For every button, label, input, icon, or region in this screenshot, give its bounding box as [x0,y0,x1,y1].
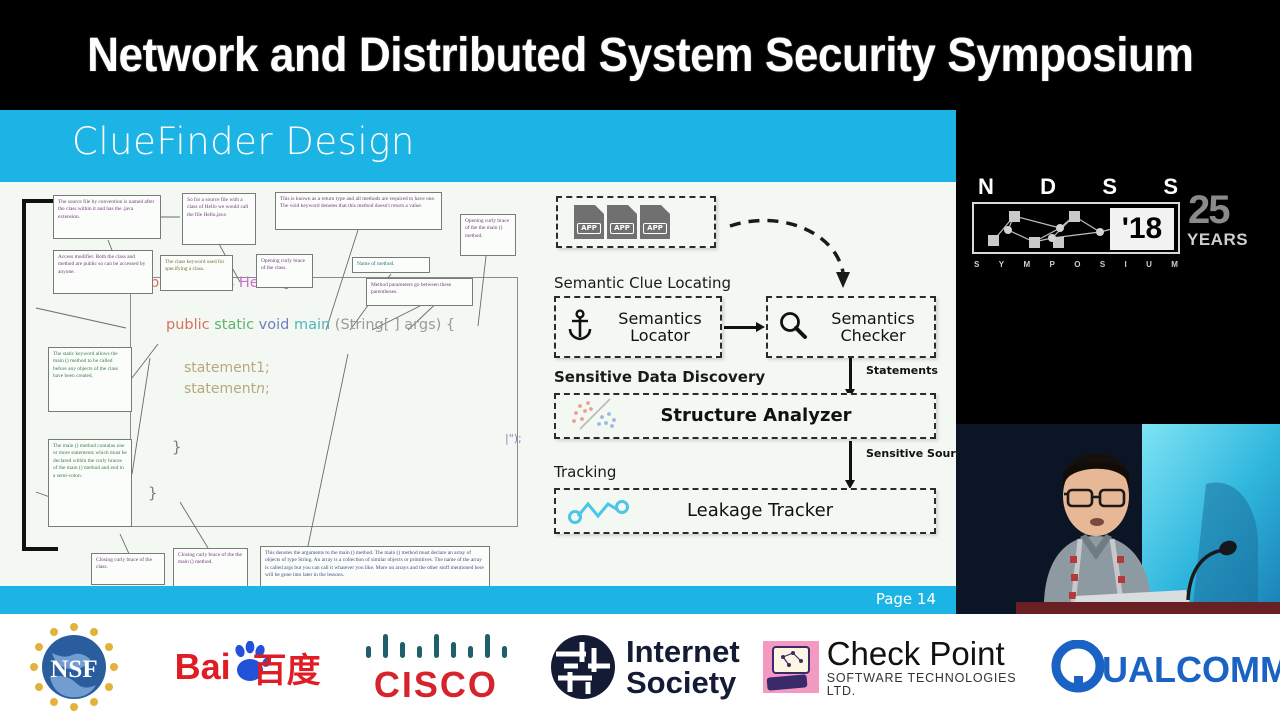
ndss-network-box: '18 [972,202,1180,254]
conference-title: Network and Distributed System Security … [87,28,1193,83]
java-anatomy-diagram: public class Hello { public static void … [8,182,538,586]
stage-label-semantic-clue-locating: Semantic Clue Locating [554,274,731,292]
ndss-logo: N D S S [956,110,1280,424]
sponsor-internet-society: Internet Society [525,632,763,702]
symposium-letter: M [1023,260,1030,269]
note-main-method-statements: The main () method contains one or more … [48,439,132,527]
edge-label-sensitive-sources: Sensitive Sources [866,447,956,460]
internet-society-text-line2: Society [626,667,740,698]
box-leakage-tracker[interactable]: Leakage Tracker [554,488,936,534]
apps-container: APP APP APP [556,196,716,248]
anniversary-number: 25 [1188,188,1229,233]
internet-society-globe-icon [548,632,618,702]
screenshot-root: Network and Distributed System Security … [0,0,1280,720]
note-opening-curly-class: Opening curly brace of the class. [256,254,313,288]
note-method-parameters: Method parameters go between these paren… [366,278,473,306]
cisco-bars-icon [356,628,516,662]
sponsor-check-point: Check Point SOFTWARE TECHNOLOGIES LTD. [763,637,1050,697]
ndss-letters: N D S S [978,174,1178,200]
scatter-plot-icon [566,397,628,436]
box-semantics-locator[interactable]: SemanticsLocator [554,296,722,358]
ndss-symposium-letters: S Y M P O S I U M [974,260,1178,269]
slide-header-bar: ClueFinder Design [0,110,956,182]
code-line-4: } [172,438,182,456]
conference-banner: Network and Distributed System Security … [0,0,1280,110]
box-label-semantics-locator: SemanticsLocator [600,310,720,345]
ndss-year: '18 [1110,208,1174,250]
sponsor-nsf: NSF [0,621,149,713]
sponsor-cisco: CISCO [347,628,525,706]
ndss-letter: D [1040,174,1056,200]
zigzag-trace-icon [566,494,636,529]
page-number: Page 14 [876,590,936,608]
note-source-file-naming: The source file by convention is named a… [53,195,161,239]
code-line-5: } [148,484,158,502]
cluefinder-architecture-flowchart: APP APP APP Semantic Clue Locating [548,188,948,586]
note-closing-curly-class: Closing curly brace of the class. [91,553,165,585]
internet-society-text-line1: Internet [626,636,740,667]
app-icon-label: APP [577,223,601,234]
app-icon: APP [640,205,670,239]
symposium-letter: O [1074,260,1080,269]
symposium-letter: Y [999,260,1004,269]
symposium-letter: S [1100,260,1105,269]
note-access-modifier: Access modifier. Both the class and meth… [53,250,153,294]
anniversary-word: YEARS [1187,230,1248,250]
edge-label-statements: Statements [866,364,938,377]
box-label-structure-analyzer: Structure Analyzer [628,406,884,425]
presentation-slide: ClueFinder Design [0,110,956,614]
code-line-smiley: |"); [505,432,522,445]
slide-body: public class Hello { public static void … [0,182,956,586]
qualcomm-text: UALCOMM [1102,649,1280,690]
speaker-scene [956,424,1280,614]
stage-label-sensitive-data-discovery: Sensitive Data Discovery [554,368,765,386]
symposium-letter: I [1125,260,1127,269]
sponsor-bar: NSF Bai 百度 [0,614,1280,720]
baidu-text-chinese: 百度 [253,643,321,692]
magnifier-icon [778,310,808,345]
app-icon: APP [607,205,637,239]
note-hello-java-example: So for a source file with a class of Hel… [182,193,256,245]
note-name-of-method: Name of method. [352,257,430,273]
baidu-text-bai: Bai [175,646,231,688]
slide-title: ClueFinder Design [72,120,415,163]
code-line-3: statementn; [184,381,270,397]
cisco-text: CISCO [374,664,498,706]
stage-label-tracking: Tracking [554,463,616,481]
arrow-analyzer-to-tracker [849,441,852,481]
ndss-letter: S [1102,174,1117,200]
check-point-subtext: SOFTWARE TECHNOLOGIES LTD. [827,672,1050,697]
symposium-letter: S [974,260,979,269]
app-icon-label: APP [643,223,667,234]
sponsor-qualcomm: UALCOMM [1050,640,1280,694]
app-icon-label: APP [610,223,634,234]
qualcomm-logo-icon: UALCOMM [1050,640,1280,694]
code-line-2: statement1; [184,360,270,376]
code-line-1: public static void main (String[ ] args)… [166,317,455,333]
app-icon: APP [574,205,604,239]
symposium-letter: M [1171,260,1178,269]
note-closing-curly-main: Closing curly brace of the the main () m… [173,548,248,590]
ndss-letter: S [1163,174,1178,200]
check-point-monitor-icon [763,641,819,693]
anchor-icon [566,309,594,346]
arrow-checker-to-analyzer [849,358,852,390]
speaker-video-feed [956,424,1280,614]
note-class-keyword: The class keyword used for specifying a … [160,255,233,291]
slide-footer-bar: Page 14 [0,586,956,614]
note-return-type-void: This is known as a return type and all m… [275,192,442,230]
box-semantics-checker[interactable]: SemanticsChecker [766,296,936,358]
code-frame [130,277,518,527]
sponsor-baidu: Bai 百度 [149,641,347,693]
symposium-letter: P [1049,260,1054,269]
note-static-keyword: The static keyword allows the main () me… [48,347,132,412]
note-opening-curly-main: Opening curly brace of the the main () m… [460,214,516,256]
symposium-letter: U [1146,260,1152,269]
box-label-leakage-tracker: Leakage Tracker [636,501,884,520]
box-structure-analyzer[interactable]: Structure Analyzer [554,393,936,439]
arrow-locator-to-checker [724,326,756,329]
nsf-logo-text: NSF [51,656,98,683]
ndss-letter: N [978,174,994,200]
nsf-logo-icon: NSF [28,621,120,713]
box-label-semantics-checker: SemanticsChecker [812,310,934,345]
check-point-text: Check Point [827,637,1050,670]
